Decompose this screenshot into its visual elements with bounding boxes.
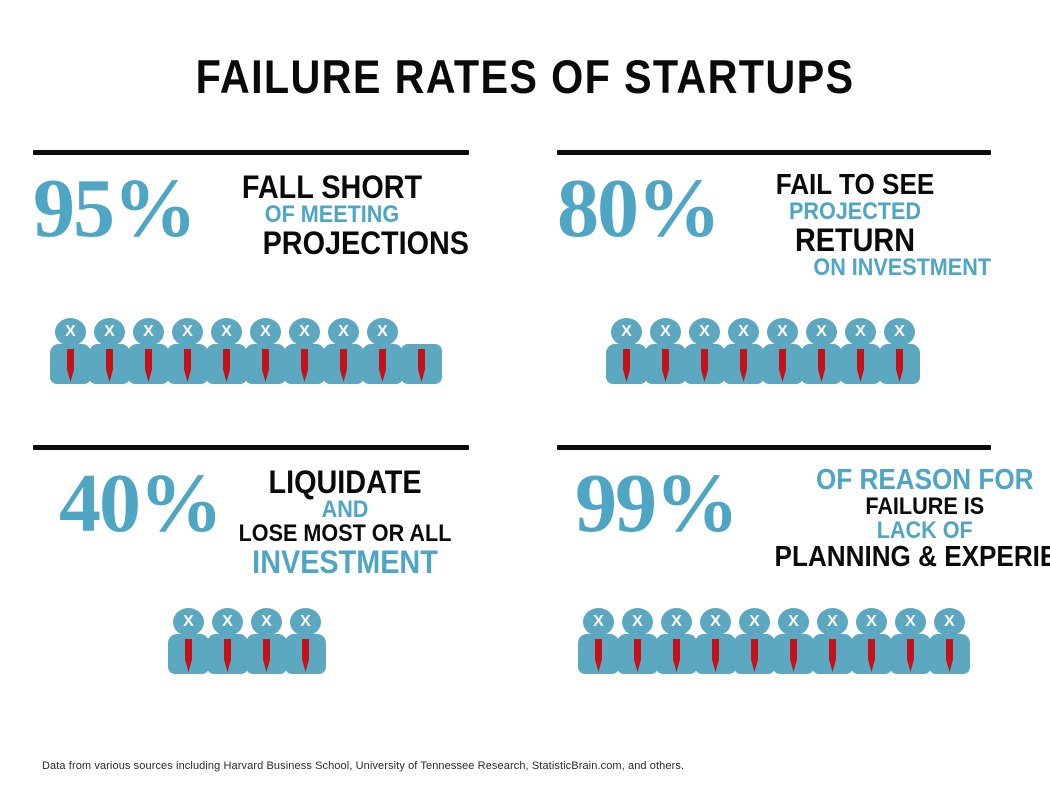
person-head: X (611, 318, 642, 346)
stat-percent: 95% (33, 161, 195, 257)
person-head: X (661, 608, 692, 636)
caption-line: FAIL TO SEE (733, 171, 978, 200)
person-x-icon: X (840, 318, 881, 384)
stat-percent: 40% (59, 456, 221, 552)
caption-line: OF REASON FOR (756, 466, 1050, 495)
stat-panel-95: 95% FALL SHORT OF MEETING PROJECTIONS (33, 150, 469, 259)
pictogram-row-40: XXXX (168, 608, 324, 674)
x-mark-icon: X (55, 318, 86, 346)
person-x-icon: X (879, 318, 920, 384)
x-mark-icon: X (211, 318, 242, 346)
caption-line: INVESTMENT (233, 546, 456, 578)
person-x-icon: X (245, 318, 286, 384)
x-mark-icon: X (212, 608, 243, 636)
x-mark-icon: X (817, 608, 848, 636)
person-head: X (133, 318, 164, 346)
person-x-icon: X (656, 608, 697, 674)
x-mark-icon: X (94, 318, 125, 346)
x-mark-icon: X (806, 318, 837, 346)
person-x-icon: X (168, 608, 209, 674)
person-x-icon: X (890, 608, 931, 674)
x-mark-icon: X (367, 318, 398, 346)
x-mark-icon: X (895, 608, 926, 636)
caption-line: PROJECTED (733, 200, 978, 224)
stat-percent: 99% (575, 456, 737, 552)
pictogram-row-95: XXXXXXXXX (50, 318, 440, 384)
x-mark-icon: X (739, 608, 770, 636)
stat-row: 95% FALL SHORT OF MEETING PROJECTIONS (33, 161, 469, 259)
person-x-icon: X (207, 608, 248, 674)
x-mark-icon: X (661, 608, 692, 636)
person-x-icon: X (762, 318, 803, 384)
person-x-icon: X (734, 608, 775, 674)
person-x-icon: X (89, 318, 130, 384)
person-x-icon: X (246, 608, 287, 674)
divider-rule (557, 445, 991, 450)
person-x-icon: X (206, 318, 247, 384)
caption-line: FALL SHORT (209, 171, 456, 203)
stat-panel-80: 80% FAIL TO SEE PROJECTED RETURN ON INVE… (557, 150, 991, 280)
caption-line: RETURN (733, 224, 978, 256)
stat-panel-99: 99% OF REASON FOR FAILURE IS LACK OF PLA… (557, 445, 991, 572)
caption-line: ON INVESTMENT (746, 256, 991, 280)
person-head: X (728, 318, 759, 346)
caption-line: LOSE MOST OR ALL (233, 522, 456, 546)
person-x-icon: X (323, 318, 364, 384)
person-head: X (328, 318, 359, 346)
person-x-icon: X (695, 608, 736, 674)
person-head: X (884, 318, 915, 346)
person-head: X (622, 608, 653, 636)
person-x-icon: X (606, 318, 647, 384)
x-mark-icon: X (689, 318, 720, 346)
stat-row: 40% LIQUIDATE AND LOSE MOST OR ALL INVES… (33, 456, 469, 578)
person-x-icon: X (285, 608, 326, 674)
x-mark-icon: X (767, 318, 798, 346)
person-x-icon: X (362, 318, 403, 384)
stat-row: 80% FAIL TO SEE PROJECTED RETURN ON INVE… (557, 161, 991, 280)
x-mark-icon: X (856, 608, 887, 636)
person-head: X (289, 318, 320, 346)
divider-rule (557, 150, 991, 155)
x-mark-icon: X (728, 318, 759, 346)
person-x-icon: X (801, 318, 842, 384)
x-mark-icon: X (173, 608, 204, 636)
x-mark-icon: X (328, 318, 359, 346)
stat-row: 99% OF REASON FOR FAILURE IS LACK OF PLA… (557, 456, 991, 572)
stat-caption: FALL SHORT OF MEETING PROJECTIONS (195, 161, 469, 259)
person-head: X (367, 318, 398, 346)
caption-line: FAILURE IS (756, 495, 1050, 519)
person-x-icon: X (284, 318, 325, 384)
person-x-icon: X (128, 318, 169, 384)
person-x-icon: X (645, 318, 686, 384)
person-head: X (212, 608, 243, 636)
x-mark-icon: X (884, 318, 915, 346)
source-note: Data from various sources including Harv… (42, 760, 684, 772)
person-x-icon: X (851, 608, 892, 674)
pictogram-row-99: XXXXXXXXXX (578, 608, 968, 674)
person-head: X (845, 318, 876, 346)
person-head: X (251, 608, 282, 636)
page-title: FAILURE RATES OF STARTUPS (63, 52, 987, 102)
x-mark-icon: X (934, 608, 965, 636)
x-mark-icon: X (611, 318, 642, 346)
person-head: X (817, 608, 848, 636)
x-mark-icon: X (700, 608, 731, 636)
stat-percent: 80% (557, 161, 719, 257)
x-mark-icon: X (583, 608, 614, 636)
x-mark-icon: X (250, 318, 281, 346)
stat-caption: FAIL TO SEE PROJECTED RETURN ON INVESTME… (719, 161, 991, 280)
pictogram-row-80: XXXXXXXX (606, 318, 918, 384)
x-mark-icon: X (172, 318, 203, 346)
x-mark-icon: X (251, 608, 282, 636)
x-mark-icon: X (650, 318, 681, 346)
person-x-icon (401, 318, 442, 384)
stat-caption: LIQUIDATE AND LOSE MOST OR ALL INVESTMEN… (221, 456, 469, 578)
caption-line: LIQUIDATE (233, 466, 456, 498)
x-mark-icon: X (778, 608, 809, 636)
person-x-icon: X (773, 608, 814, 674)
stat-panel-40: 40% LIQUIDATE AND LOSE MOST OR ALL INVES… (33, 445, 469, 578)
divider-rule (33, 150, 469, 155)
person-head: X (739, 608, 770, 636)
person-head: X (211, 318, 242, 346)
person-x-icon: X (578, 608, 619, 674)
person-x-icon: X (684, 318, 725, 384)
person-head: X (689, 318, 720, 346)
person-head: X (650, 318, 681, 346)
person-head: X (767, 318, 798, 346)
x-mark-icon: X (845, 318, 876, 346)
person-x-icon: X (723, 318, 764, 384)
x-mark-icon: X (290, 608, 321, 636)
x-mark-icon: X (622, 608, 653, 636)
person-x-icon: X (812, 608, 853, 674)
person-head: X (55, 318, 86, 346)
person-head: X (94, 318, 125, 346)
person-head: X (700, 608, 731, 636)
person-head: X (172, 318, 203, 346)
person-head: X (895, 608, 926, 636)
stat-caption: OF REASON FOR FAILURE IS LACK OF PLANNIN… (737, 456, 1050, 572)
person-x-icon: X (617, 608, 658, 674)
person-head: X (806, 318, 837, 346)
x-mark-icon: X (133, 318, 164, 346)
x-mark-icon: X (289, 318, 320, 346)
person-head: X (173, 608, 204, 636)
caption-line: OF MEETING (209, 203, 456, 227)
person-head: X (934, 608, 965, 636)
person-head: X (778, 608, 809, 636)
caption-line: PLANNING & EXPERIENCE (775, 543, 1050, 572)
person-head: X (856, 608, 887, 636)
person-head: X (290, 608, 321, 636)
divider-rule (33, 445, 469, 450)
person-head: X (250, 318, 281, 346)
caption-line: PROJECTIONS (222, 227, 469, 259)
person-x-icon: X (167, 318, 208, 384)
caption-line: AND (233, 498, 456, 522)
caption-line: LACK OF (756, 519, 1050, 543)
person-x-icon: X (50, 318, 91, 384)
person-x-icon: X (929, 608, 970, 674)
person-head: X (583, 608, 614, 636)
